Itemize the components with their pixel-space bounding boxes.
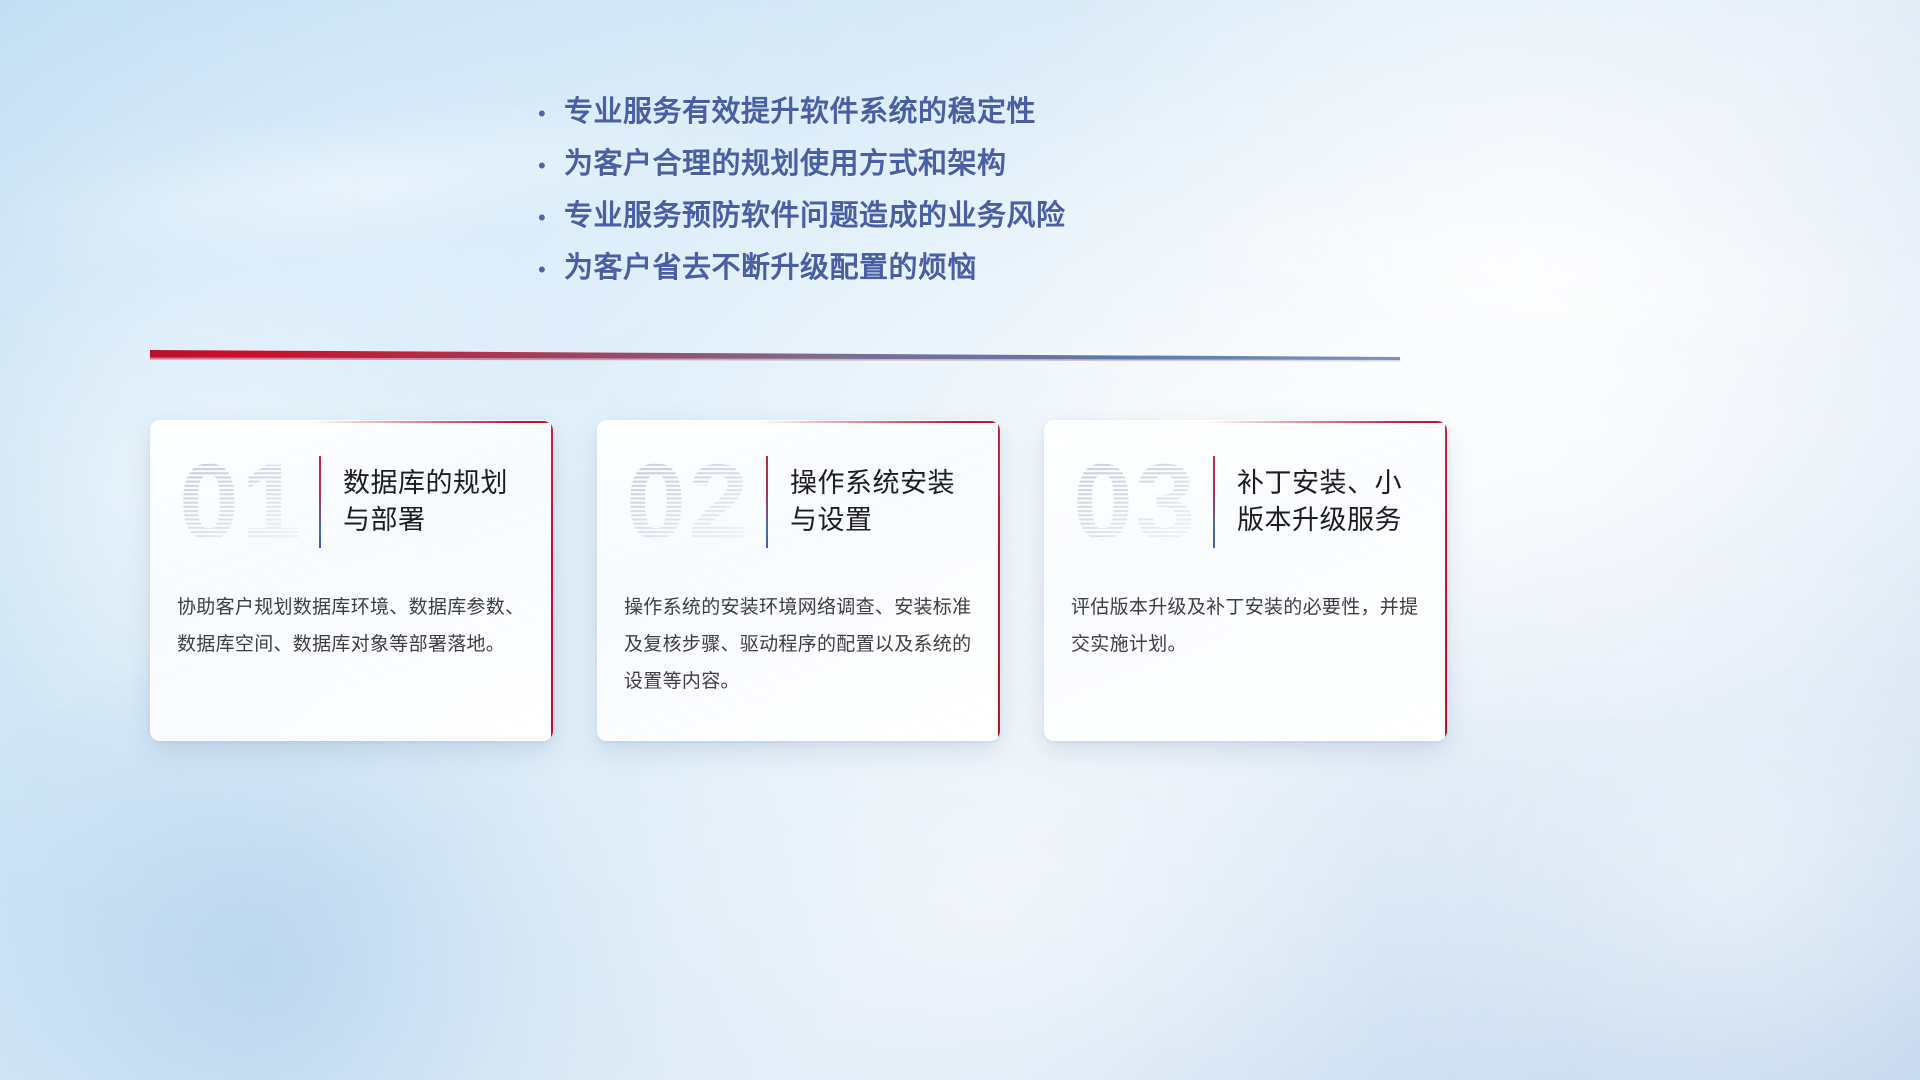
bullet-text: 专业服务预防软件问题造成的业务风险 bbox=[564, 192, 1066, 234]
card-title-line: 与设置 bbox=[790, 502, 955, 539]
card-number-watermark: 01 bbox=[177, 447, 313, 557]
card-title-line: 补丁安装、小 bbox=[1237, 465, 1402, 502]
bullet-dot-icon: • bbox=[538, 155, 564, 177]
card-header: 01 数据库的规划 与部署 bbox=[151, 421, 553, 571]
service-card[interactable]: 01 数据库的规划 与部署 协助客户规划数据库环境、数据库参数、数据库空间、数据… bbox=[150, 420, 553, 741]
list-item: • 专业服务预防软件问题造成的业务风险 bbox=[538, 192, 1438, 244]
card-number-glyph: 03 bbox=[1073, 447, 1197, 557]
card-number-watermark: 02 bbox=[624, 447, 760, 557]
card-header: 02 操作系统安装 与设置 bbox=[598, 421, 1000, 571]
card-title: 数据库的规划 与部署 bbox=[343, 465, 508, 540]
bullet-dot-icon: • bbox=[538, 207, 564, 229]
card-body-text: 协助客户规划数据库环境、数据库参数、数据库空间、数据库对象等部署落地。 bbox=[151, 571, 553, 663]
section-divider bbox=[150, 348, 1400, 364]
bullet-dot-icon: • bbox=[538, 259, 564, 281]
card-title-rule bbox=[766, 456, 768, 548]
service-card-row: 01 数据库的规划 与部署 协助客户规划数据库环境、数据库参数、数据库空间、数据… bbox=[150, 420, 1447, 741]
card-title: 操作系统安装 与设置 bbox=[790, 465, 955, 540]
benefits-bullet-list: • 专业服务有效提升软件系统的稳定性 • 为客户合理的规划使用方式和架构 • 专… bbox=[538, 88, 1438, 296]
card-title-line: 操作系统安装 bbox=[790, 465, 955, 502]
card-body-text: 操作系统的安装环境网络调查、安装标准及复核步骤、驱动程序的配置以及系统的设置等内… bbox=[598, 571, 1000, 700]
card-title: 补丁安装、小 版本升级服务 bbox=[1237, 465, 1402, 540]
list-item: • 为客户省去不断升级配置的烦恼 bbox=[538, 244, 1438, 296]
bullet-dot-icon: • bbox=[538, 103, 564, 125]
card-title-line: 数据库的规划 bbox=[343, 465, 508, 502]
card-number-glyph: 02 bbox=[626, 447, 750, 557]
slide-canvas: • 专业服务有效提升软件系统的稳定性 • 为客户合理的规划使用方式和架构 • 专… bbox=[0, 0, 1920, 1080]
card-body-text: 评估版本升级及补丁安装的必要性，并提交实施计划。 bbox=[1045, 571, 1447, 663]
card-title-rule bbox=[319, 456, 321, 548]
list-item: • 专业服务有效提升软件系统的稳定性 bbox=[538, 88, 1438, 140]
list-item: • 为客户合理的规划使用方式和架构 bbox=[538, 140, 1438, 192]
card-title-rule bbox=[1213, 456, 1215, 548]
card-number-watermark: 03 bbox=[1071, 447, 1207, 557]
bullet-text: 专业服务有效提升软件系统的稳定性 bbox=[564, 88, 1036, 130]
card-header: 03 补丁安装、小 版本升级服务 bbox=[1045, 421, 1447, 571]
card-title-line: 版本升级服务 bbox=[1237, 502, 1402, 539]
bullet-text: 为客户省去不断升级配置的烦恼 bbox=[564, 244, 977, 286]
service-card[interactable]: 03 补丁安装、小 版本升级服务 评估版本升级及补丁安装的必要性，并提交实施计划… bbox=[1044, 420, 1447, 741]
service-card[interactable]: 02 操作系统安装 与设置 操作系统的安装环境网络调查、安装标准及复核步骤、驱动… bbox=[597, 420, 1000, 741]
card-number-glyph: 01 bbox=[179, 447, 303, 557]
card-title-line: 与部署 bbox=[343, 502, 508, 539]
bullet-text: 为客户合理的规划使用方式和架构 bbox=[564, 140, 1007, 182]
